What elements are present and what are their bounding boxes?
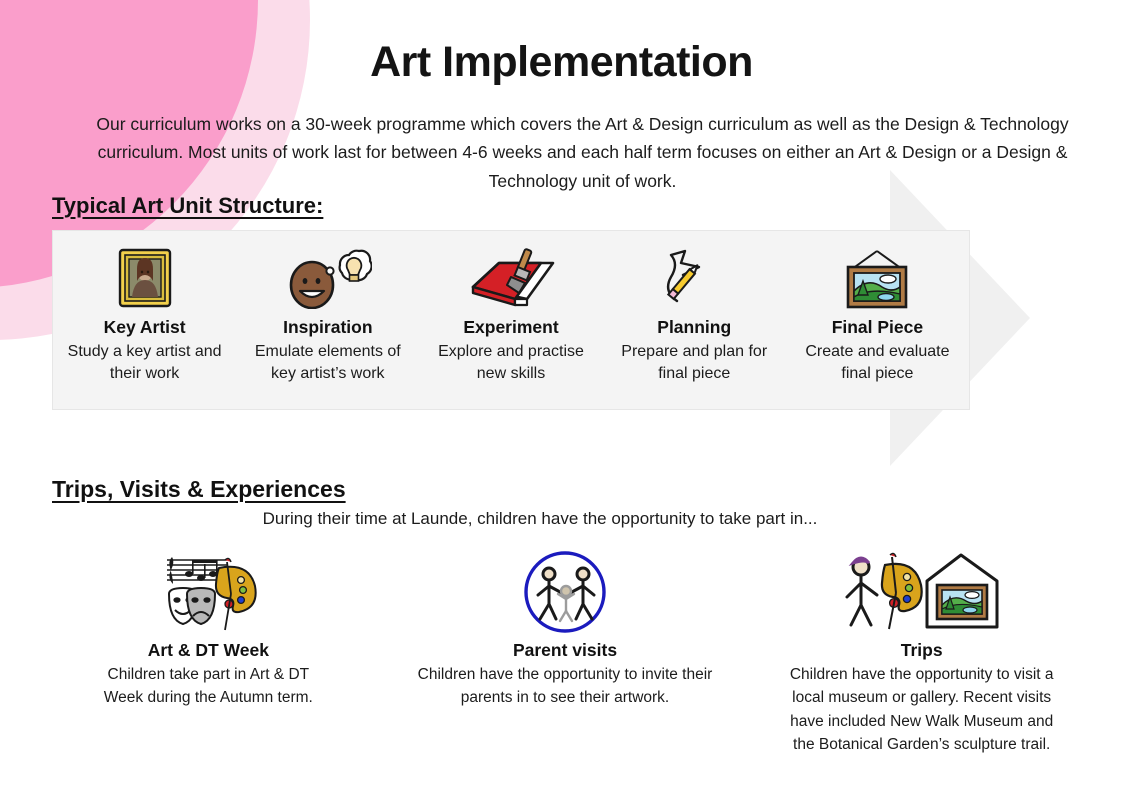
- trips-subtitle: During their time at Launde, children ha…: [180, 509, 900, 529]
- unit-step-desc: Explore and practise new skills: [419, 341, 602, 386]
- experience-card-parent-visits: Parent visits Children have the opportun…: [387, 548, 744, 788]
- unit-step-experiment: Experiment Explore and practise new skil…: [419, 231, 602, 386]
- experience-card-trips: Trips Children have the opportunity to v…: [743, 548, 1100, 788]
- unit-step-title: Experiment: [419, 317, 602, 338]
- unit-step-desc: Study a key artist and their work: [53, 341, 236, 386]
- unit-step-title: Planning: [603, 317, 786, 338]
- unit-step-desc: Emulate elements of key artist’s work: [236, 341, 419, 386]
- intro-paragraph: Our curriculum works on a 30-week progra…: [80, 110, 1085, 195]
- family-circle-icon: [387, 548, 744, 636]
- experiences-row: Art & DT Week Children take part in Art …: [30, 548, 1100, 788]
- unit-step-final-piece: Final Piece Create and evaluate final pi…: [786, 231, 969, 386]
- unit-step-inspiration: Inspiration Emulate elements of key arti…: [236, 231, 419, 386]
- unit-step-planning: Planning Prepare and plan for final piec…: [603, 231, 786, 386]
- pencil-drawing-icon: [603, 245, 786, 311]
- unit-step-desc: Prepare and plan for final piece: [603, 341, 786, 386]
- unit-step-key-artist: Key Artist Study a key artist and their …: [53, 231, 236, 386]
- experience-title: Trips: [743, 640, 1100, 661]
- unit-structure-heading: Typical Art Unit Structure:: [52, 193, 323, 219]
- experience-title: Parent visits: [387, 640, 744, 661]
- page-title: Art Implementation: [0, 38, 1123, 87]
- thinking-face-lightbulb-icon: [236, 245, 419, 311]
- artist-gallery-icon: [743, 548, 1100, 636]
- experience-card-art-dt-week: Art & DT Week Children take part in Art …: [30, 548, 387, 788]
- experience-desc: Children have the opportunity to visit a…: [743, 663, 1100, 756]
- unit-step-desc: Create and evaluate final piece: [786, 341, 969, 386]
- unit-step-title: Key Artist: [53, 317, 236, 338]
- trips-section-heading: Trips, Visits & Experiences: [52, 476, 346, 503]
- unit-step-title: Inspiration: [236, 317, 419, 338]
- paintbrush-icon: [419, 245, 602, 311]
- experience-desc: Children take part in Art & DT Week duri…: [30, 663, 387, 710]
- unit-structure-panel: Key Artist Study a key artist and their …: [52, 230, 970, 410]
- music-masks-palette-icon: [30, 548, 387, 636]
- framed-portrait-icon: [53, 245, 236, 311]
- experience-title: Art & DT Week: [30, 640, 387, 661]
- experience-desc: Children have the opportunity to invite …: [387, 663, 744, 710]
- hanging-picture-icon: [786, 245, 969, 311]
- unit-step-title: Final Piece: [786, 317, 969, 338]
